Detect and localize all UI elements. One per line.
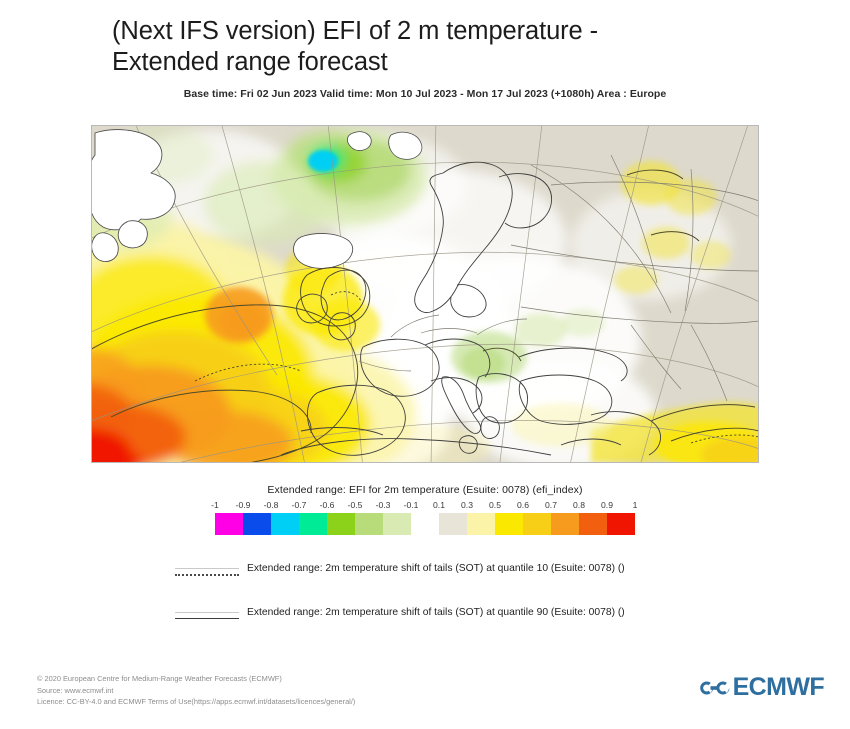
ecmwf-logo: ECMWF: [700, 675, 824, 700]
colorbar-swatch-pos-4: [551, 513, 579, 535]
colorbar-tick--0.7: -0.7: [292, 500, 307, 510]
forecast-metadata-subtitle: Base time: Fri 02 Jun 2023 Valid time: M…: [0, 88, 850, 100]
colorbar-tick-1: 1: [633, 500, 638, 510]
colorbar-swatch-neg-2: [271, 513, 299, 535]
licence-line: Licence: CC-BY-4.0 and ECMWF Terms of Us…: [37, 696, 355, 708]
colorbar-swatch-pos-5: [579, 513, 607, 535]
colorbar-tick--1: -1: [211, 500, 219, 510]
ecmwf-mark-icon: [700, 677, 730, 699]
legend-row: Extended range: 2m temperature shift of …: [0, 604, 850, 648]
colorbar-strip: [215, 513, 635, 535]
footer-credits: © 2020 European Centre for Medium-Range …: [37, 673, 355, 708]
colorbar-tick--0.1: -0.1: [404, 500, 419, 510]
colorbar-tick--0.3: -0.3: [376, 500, 391, 510]
source-line: Source: www.ecmwf.int: [37, 685, 355, 697]
copyright-line: © 2020 European Centre for Medium-Range …: [37, 673, 355, 685]
colorbar-swatch-neg-3: [299, 513, 327, 535]
sot-q90-label: Extended range: 2m temperature shift of …: [247, 607, 625, 618]
colorbar-tick-0.3: 0.3: [461, 500, 473, 510]
colorbar-tick--0.5: -0.5: [348, 500, 363, 510]
sot-q10-line-sample: [175, 568, 239, 582]
colorbar-tick-0.7: 0.7: [545, 500, 557, 510]
colorbar: -1-0.9-0.8-0.7-0.6-0.5-0.3-0.10.10.30.50…: [215, 500, 635, 535]
colorbar-swatch-pos-1: [467, 513, 495, 535]
colorbar-title: Extended range: EFI for 2m temperature (…: [0, 484, 850, 496]
page-title: (Next IFS version) EFI of 2 m temperatur…: [112, 16, 752, 78]
colorbar-tick--0.9: -0.9: [236, 500, 251, 510]
ecmwf-logo-text: ECMWF: [733, 675, 824, 700]
colorbar-tick-labels: -1-0.9-0.8-0.7-0.6-0.5-0.3-0.10.10.30.50…: [215, 500, 635, 513]
sot-line-legend: Extended range: 2m temperature shift of …: [0, 560, 850, 648]
colorbar-swatch-pos-0: [439, 513, 467, 535]
colorbar-tick--0.6: -0.6: [320, 500, 335, 510]
colorbar-swatch-neutral-gap: [411, 513, 439, 535]
legend-row: Extended range: 2m temperature shift of …: [0, 560, 850, 604]
colorbar-tick-0.6: 0.6: [517, 500, 529, 510]
colorbar-tick-0.5: 0.5: [489, 500, 501, 510]
colorbar-block: Extended range: EFI for 2m temperature (…: [0, 484, 850, 535]
colorbar-swatch-pos-2: [495, 513, 523, 535]
sot-q90-line-sample: [175, 612, 239, 626]
colorbar-swatch-neg-1: [243, 513, 271, 535]
colorbar-swatch-neg-4: [327, 513, 355, 535]
title-block: (Next IFS version) EFI of 2 m temperatur…: [112, 16, 752, 78]
colorbar-swatch-pos-6: [607, 513, 635, 535]
colorbar-swatch-neg-5: [355, 513, 383, 535]
colorbar-swatch-neg-0: [215, 513, 243, 535]
efi-temperature-map[interactable]: [91, 125, 759, 463]
colorbar-tick-0.9: 0.9: [601, 500, 613, 510]
map-canvas: [91, 125, 759, 463]
sot-q10-label: Extended range: 2m temperature shift of …: [247, 563, 625, 574]
colorbar-tick-0.8: 0.8: [573, 500, 585, 510]
colorbar-swatch-neg-6: [383, 513, 411, 535]
colorbar-swatch-pos-3: [523, 513, 551, 535]
colorbar-tick--0.8: -0.8: [264, 500, 279, 510]
colorbar-tick-0.1: 0.1: [433, 500, 445, 510]
